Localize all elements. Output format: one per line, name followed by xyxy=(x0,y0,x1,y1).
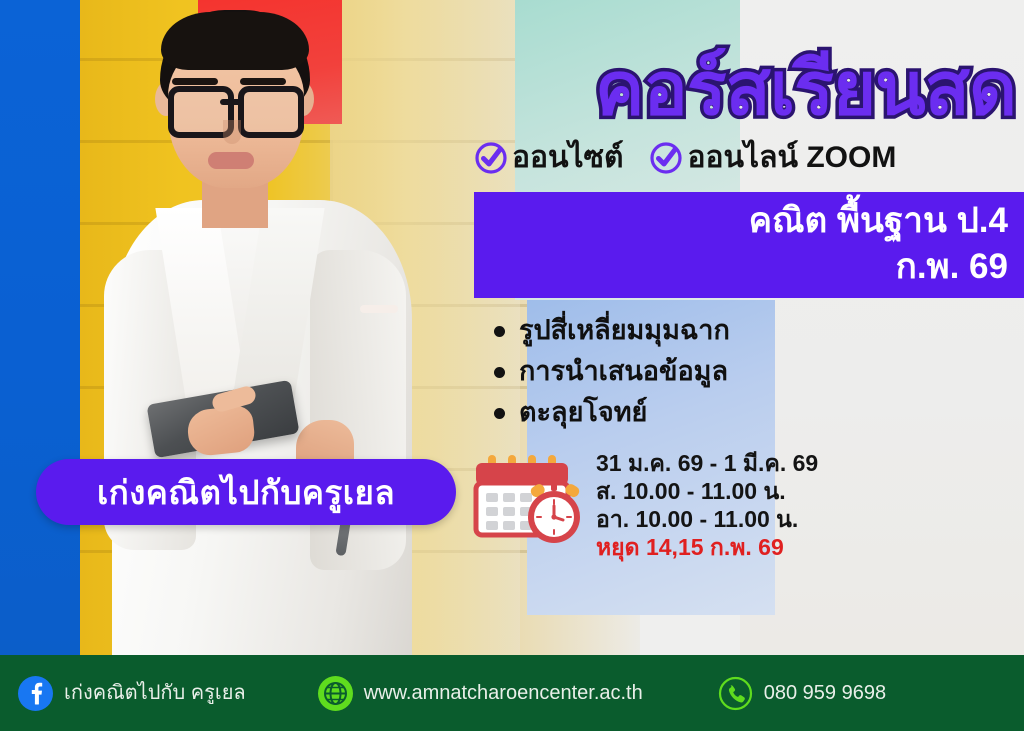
eyeglasses-bridge xyxy=(220,99,242,105)
list-item: รูปสี่เหลี่ยมมุมฉาก xyxy=(478,314,898,347)
globe-icon xyxy=(318,676,353,711)
contact-footer: เก่งคณิตไปกับ ครูเยล www.amnatcharoencen… xyxy=(0,655,1024,731)
teeth xyxy=(360,305,398,313)
schedule-lines: 31 ม.ค. 69 - 1 มี.ค. 69 ส. 10.00 - 11.00… xyxy=(596,447,818,561)
list-item: ตะลุยโจทย์ xyxy=(478,396,898,429)
list-item: การนำเสนอข้อมูล xyxy=(478,355,898,388)
check-circle-icon xyxy=(474,141,508,175)
schedule-sunday: อา. 10.00 - 11.00 น. xyxy=(596,505,818,533)
mode-onsite: ออนไซต์ xyxy=(474,141,623,175)
delivery-modes: ออนไซต์ ออนไลน์ ZOOM xyxy=(474,136,1020,180)
topic-label: รูปสี่เหลี่ยมมุมฉาก xyxy=(519,314,730,347)
eyeglasses-right-lens xyxy=(238,86,304,138)
instructor-photo xyxy=(60,0,390,655)
poster-canvas: คอร์สเรียนสด ออนไซต์ ออนไลน์ ZOOM คณิต xyxy=(0,0,1024,731)
topic-label: ตะลุยโจทย์ xyxy=(519,396,647,429)
bullet-dot-icon xyxy=(494,408,505,419)
mouth xyxy=(208,152,254,169)
mode-online: ออนไลน์ ZOOM xyxy=(649,141,896,175)
eyebrow-left xyxy=(172,78,218,85)
schedule-block: 31 ม.ค. 69 - 1 มี.ค. 69 ส. 10.00 - 11.00… xyxy=(472,447,892,561)
mode-online-label: ออนไลน์ ZOOM xyxy=(687,141,896,175)
topic-list: รูปสี่เหลี่ยมมุมฉาก การนำเสนอข้อมูล ตะลุ… xyxy=(478,314,898,437)
schedule-holiday: หยุด 14,15 ก.พ. 69 xyxy=(596,533,818,561)
page-title: คอร์สเรียนสด xyxy=(470,48,1016,130)
contact-phone[interactable]: 080 959 9698 xyxy=(718,676,886,711)
course-month: ก.พ. 69 xyxy=(474,244,1008,290)
contact-website[interactable]: www.amnatcharoencenter.ac.th xyxy=(318,676,643,711)
eyebrow-right xyxy=(240,78,286,85)
tagline-badge: เก่งคณิตไปกับครูเยล xyxy=(36,459,456,525)
bullet-dot-icon xyxy=(494,367,505,378)
schedule-saturday: ส. 10.00 - 11.00 น. xyxy=(596,477,818,505)
facebook-label: เก่งคณิตไปกับ ครูเยล xyxy=(64,681,246,705)
contact-facebook[interactable]: เก่งคณิตไปกับ ครูเยล xyxy=(18,676,246,711)
mode-onsite-label: ออนไซต์ xyxy=(512,141,623,175)
website-label: www.amnatcharoencenter.ac.th xyxy=(364,681,643,705)
calendar-clock-icon xyxy=(472,447,584,547)
hair-fringe xyxy=(161,12,309,70)
topic-label: การนำเสนอข้อมูล xyxy=(519,355,728,388)
tagline-text: เก่งคณิตไปกับครูเยล xyxy=(97,466,395,519)
course-banner: คณิต พื้นฐาน ป.4 ก.พ. 69 xyxy=(474,192,1024,298)
bullet-dot-icon xyxy=(494,326,505,337)
phone-label: 080 959 9698 xyxy=(764,681,886,705)
facebook-icon xyxy=(18,676,53,711)
schedule-date-range: 31 ม.ค. 69 - 1 มี.ค. 69 xyxy=(596,449,818,477)
nose xyxy=(223,120,241,144)
check-circle-icon xyxy=(649,141,683,175)
phone-icon xyxy=(718,676,753,711)
course-name: คณิต พื้นฐาน ป.4 xyxy=(474,198,1008,244)
